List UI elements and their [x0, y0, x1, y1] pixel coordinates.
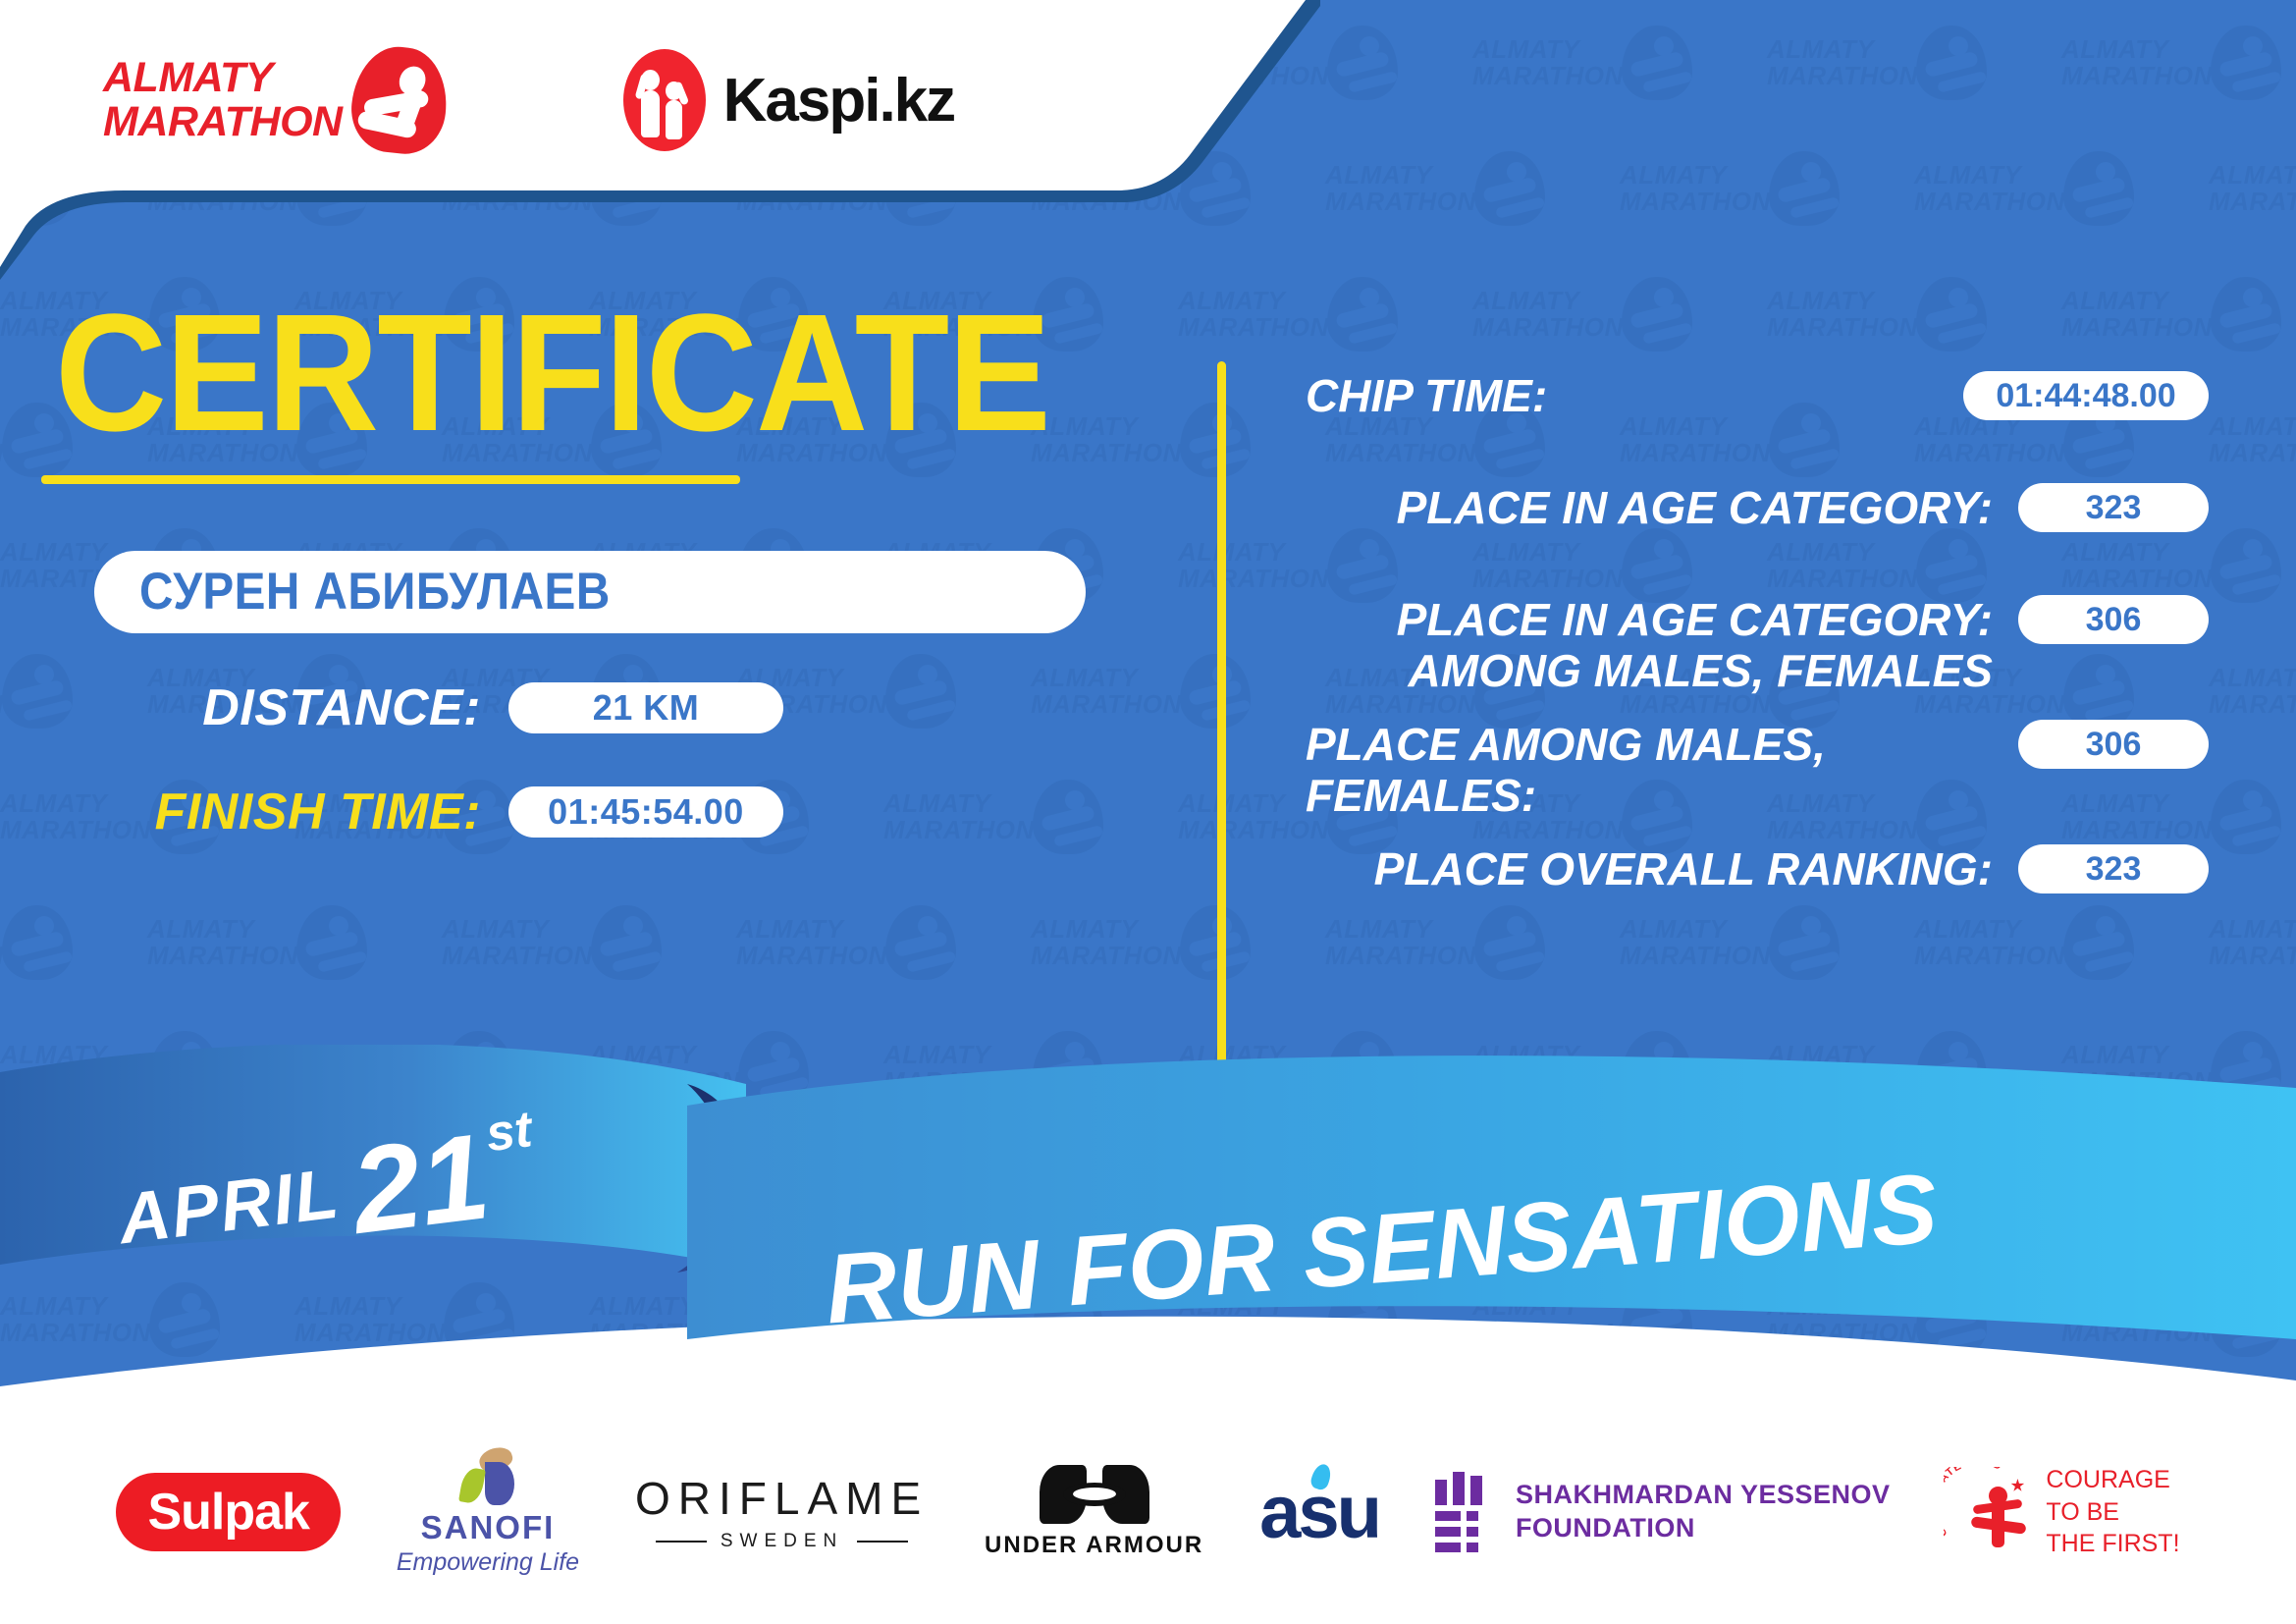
- runner-blob-icon: [347, 42, 452, 157]
- yessenov-icon: [1435, 1472, 1496, 1552]
- watermark-tile: ALMATYMARATHON: [1914, 1131, 2209, 1257]
- vertical-divider: [1217, 361, 1226, 1100]
- place-age-category-value: 323: [2018, 483, 2209, 532]
- sponsor-logos: Sulpak SANOFI Empowering Life ORIFLAME S…: [0, 1434, 2296, 1591]
- chip-time-value: 01:44:48.00: [1963, 371, 2209, 420]
- finish-time-value: 01:45:54.00: [508, 786, 783, 838]
- kaspi-people-icon: [623, 49, 706, 151]
- watermark-tile: ALMATYMARATHON: [0, 1005, 294, 1131]
- page-title: CERTIFICATE: [55, 295, 1108, 454]
- watermark-tile: ALMATYMARATHON: [589, 1005, 883, 1131]
- watermark-tile: ALMATYMARATHON: [1620, 126, 1914, 251]
- place-age-category-among-row: PLACE IN AGE CATEGORY: AMONG MALES, FEMA…: [1276, 589, 2209, 696]
- almaty-marathon-logo: ALMATY MARATHON: [103, 47, 447, 153]
- almaty-line2: MARATHON: [103, 100, 343, 144]
- under-armour-wordmark: UNDER ARMOUR: [985, 1532, 1203, 1559]
- watermark-tile: ALMATYMARATHON: [2209, 880, 2296, 1005]
- watermark-tile: ALMATYMARATHON: [1767, 0, 2061, 126]
- place-overall-ranking-value: 323: [2018, 844, 2209, 893]
- watermark-tile: ALMATYMARATHON: [0, 880, 147, 1005]
- watermark-tile: ALMATYMARATHON: [883, 1005, 1178, 1131]
- almaty-marathon-wordmark: ALMATY MARATHON: [103, 56, 343, 143]
- sponsor-courage-fund: CORPORATE FUND COURAGE TO BE THE FIRST!: [1946, 1464, 2179, 1560]
- watermark-tile: ALMATYMARATHON: [2061, 0, 2296, 126]
- watermark-tile: ALMATYMARATHON: [1472, 251, 1767, 377]
- almaty-line1: ALMATY: [103, 56, 343, 100]
- place-age-category-among-label: PLACE IN AGE CATEGORY: AMONG MALES, FEMA…: [1276, 589, 2018, 696]
- event-day: 21: [347, 1128, 494, 1241]
- sponsor-under-armour: UNDER ARMOUR: [985, 1465, 1203, 1559]
- chip-time-label: CHIP TIME:: [1276, 365, 1963, 422]
- header-logos: ALMATY MARATHON Kaspi.kz: [103, 47, 954, 153]
- certificate-page: ALMATYMARATHONALMATYMARATHONALMATYMARATH…: [0, 0, 2296, 1624]
- distance-label: DISTANCE:: [0, 678, 481, 737]
- sponsor-oriflame: ORIFLAME SWEDEN: [635, 1472, 929, 1552]
- chip-time-row: CHIP TIME: 01:44:48.00: [1276, 365, 2209, 460]
- watermark-tile: ALMATYMARATHON: [2209, 1131, 2296, 1257]
- courage-line3: THE FIRST!: [2046, 1528, 2179, 1560]
- watermark-tile: ALMATYMARATHON: [1914, 126, 2209, 251]
- sponsor-yessenov-foundation: SHAKHMARDAN YESSENOV FOUNDATION: [1435, 1472, 1891, 1552]
- place-overall-ranking-row: PLACE OVERALL RANKING: 323: [1276, 839, 2209, 933]
- watermark-tile: ALMATYMARATHON: [2061, 1005, 2296, 1131]
- watermark-tile: ALMATYMARATHON: [1472, 1005, 1767, 1131]
- watermark-tile: ALMATYMARATHON: [1325, 126, 1620, 251]
- watermark-tile: ALMATYMARATHON: [442, 880, 736, 1005]
- stats-column: CHIP TIME: 01:44:48.00 PLACE IN AGE CATE…: [1276, 365, 2209, 950]
- place-age-category-among-value: 306: [2018, 595, 2209, 644]
- watermark-tile: ALMATYMARATHON: [2209, 377, 2296, 503]
- courage-line2: TO BE: [2046, 1496, 2179, 1529]
- place-among-males-females-label: PLACE AMONG MALES, FEMALES:: [1276, 714, 2018, 821]
- sponsor-sanofi: SANOFI Empowering Life: [397, 1448, 579, 1577]
- sanofi-icon: [457, 1448, 518, 1507]
- participant-name-value: СУРЕН АБИБУЛАЕВ: [139, 562, 611, 622]
- sponsor-asu: asu: [1259, 1470, 1379, 1555]
- watermark-tile: ALMATYMARATHON: [2209, 628, 2296, 754]
- watermark-tile: ALMATYMARATHON: [1767, 251, 2061, 377]
- watermark-tile: ALMATYMARATHON: [147, 880, 442, 1005]
- oriflame-wordmark: ORIFLAME: [635, 1472, 929, 1525]
- event-date: APRIL 21 st: [114, 1121, 553, 1271]
- place-age-category-row: PLACE IN AGE CATEGORY: 323: [1276, 477, 2209, 571]
- event-month: APRIL: [114, 1154, 344, 1261]
- watermark-tile: ALMATYMARATHON: [2209, 126, 2296, 251]
- watermark-tile: ALMATYMARATHON: [736, 880, 1031, 1005]
- courage-fund-icon: CORPORATE FUND: [1946, 1465, 2034, 1559]
- place-age-category-label: PLACE IN AGE CATEGORY:: [1276, 477, 2018, 534]
- left-column: CERTIFICATE СУРЕН АБИБУЛАЕВ DISTANCE: 21…: [0, 295, 1188, 841]
- oriflame-sub-text: SWEDEN: [721, 1531, 843, 1552]
- watermark-tile: ALMATYMARATHON: [1472, 0, 1767, 126]
- finish-time-label: FINISH TIME:: [0, 783, 481, 841]
- sanofi-tagline: Empowering Life: [397, 1548, 579, 1577]
- distance-row: DISTANCE: 21 KM: [0, 678, 1188, 737]
- kaspi-logo: Kaspi.kz: [623, 49, 955, 151]
- sponsor-sulpak: Sulpak: [116, 1473, 341, 1551]
- watermark-tile: ALMATYMARATHON: [2061, 251, 2296, 377]
- place-overall-ranking-label: PLACE OVERALL RANKING:: [1276, 839, 2018, 895]
- yessenov-wordmark: SHAKHMARDAN YESSENOV FOUNDATION: [1516, 1479, 1891, 1545]
- under-armour-icon: [1040, 1465, 1149, 1524]
- kaspi-wordmark: Kaspi.kz: [723, 66, 955, 135]
- place-among-males-females-row: PLACE AMONG MALES, FEMALES: 306: [1276, 714, 2209, 821]
- yessenov-line2: FOUNDATION: [1516, 1512, 1891, 1545]
- sanofi-wordmark: SANOFI: [421, 1509, 556, 1546]
- watermark-tile: ALMATYMARATHON: [1767, 1005, 2061, 1131]
- event-day-suffix: st: [483, 1100, 535, 1164]
- asu-logo: asu: [1259, 1470, 1379, 1555]
- finish-time-row: FINISH TIME: 01:45:54.00: [0, 783, 1188, 841]
- participant-name-field: СУРЕН АБИБУЛАЕВ: [94, 551, 1086, 633]
- distance-value: 21 KM: [508, 682, 783, 733]
- courage-line1: COURAGE: [2046, 1464, 2179, 1496]
- yessenov-line1: SHAKHMARDAN YESSENOV: [1516, 1479, 1891, 1512]
- sulpak-logo: Sulpak: [116, 1473, 341, 1551]
- courage-fund-wordmark: COURAGE TO BE THE FIRST!: [2046, 1464, 2179, 1560]
- oriflame-sub: SWEDEN: [656, 1531, 908, 1552]
- place-among-males-females-value: 306: [2018, 720, 2209, 769]
- title-underline: [41, 475, 740, 484]
